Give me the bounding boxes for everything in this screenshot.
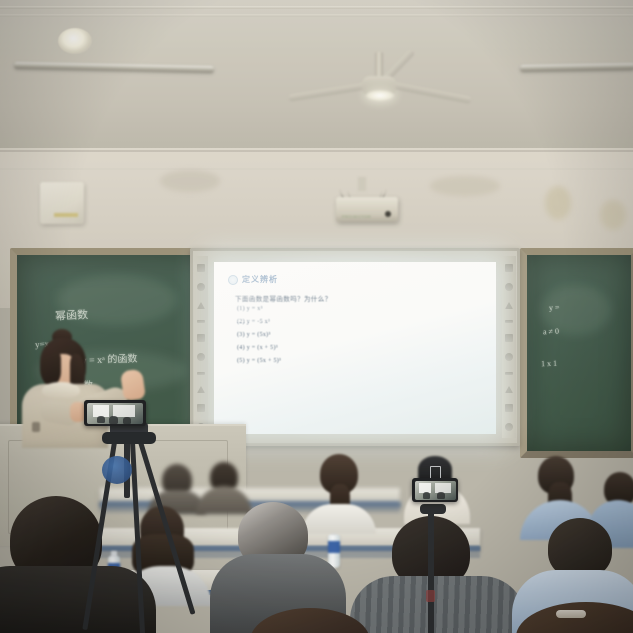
slide-equation: (2) y = -5 x³ xyxy=(237,319,482,325)
smartboard-tool-icon[interactable] xyxy=(197,320,205,323)
recessed-downlight-icon xyxy=(58,28,92,54)
water-bottle-2 xyxy=(328,534,340,568)
smartboard-tool-icon[interactable] xyxy=(197,334,205,342)
smartboard-tool-icon[interactable] xyxy=(197,283,205,291)
smartboard-tool-icon[interactable] xyxy=(197,353,205,361)
tripod-logo-icon xyxy=(102,456,132,484)
smartboard-tool-icon[interactable] xyxy=(505,404,513,412)
wall-trim-line xyxy=(0,150,633,152)
ceiling-fan-icon xyxy=(300,52,460,122)
slide-title: 定义辨析 xyxy=(242,274,278,285)
slide-equation: (1) y = x³ xyxy=(237,306,482,312)
wall-trim-line-2 xyxy=(0,168,633,170)
smartboard-tool-icon[interactable] xyxy=(197,372,205,375)
camera-monopod-right[interactable] xyxy=(400,470,480,633)
slide-heading: 定义辨析 xyxy=(228,274,482,285)
wall-smudge xyxy=(160,170,220,192)
teacher-right-hand-raised xyxy=(120,369,146,402)
teacher-collar xyxy=(42,382,80,398)
slide-bullet-icon xyxy=(228,275,238,285)
teacher-hair-front xyxy=(41,350,61,384)
slide-equations: (1) y = x³(2) y = -5 x³(3) y = (5x)³(4) … xyxy=(228,306,482,364)
chalkboard-right: y =a ≠ 01 x 1 xyxy=(520,248,633,458)
smartboard-tool-icon[interactable] xyxy=(505,353,513,361)
chalkboard-note: 1 x 1 xyxy=(541,359,557,369)
smartboard-tool-icon[interactable] xyxy=(505,334,513,342)
slide-equation: (4) y = (x + 5)³ xyxy=(237,345,482,351)
smartboard-tool-icon[interactable] xyxy=(197,386,205,393)
interactive-smart-board[interactable]: 定义辨析 下面函数是幂函数吗？为什么？ (1) y = x³(2) y = -5… xyxy=(190,248,520,446)
observer-head xyxy=(548,518,612,578)
smartboard-tool-icon[interactable] xyxy=(505,264,513,272)
smartboard-tool-icon[interactable] xyxy=(197,264,205,272)
smartboard-tool-icon[interactable] xyxy=(197,302,205,309)
smartboard-tool-icon[interactable] xyxy=(505,372,513,375)
smartboard-tool-icon[interactable] xyxy=(505,302,513,309)
hair-clip-icon xyxy=(556,610,586,618)
ceiling-seam-2 xyxy=(0,14,633,17)
smartphone-recording-left[interactable] xyxy=(84,400,146,426)
slide-question: 下面函数是幂函数吗？为什么？ xyxy=(235,293,482,303)
projection-screen: 定义辨析 下面函数是幂函数吗？为什么？ (1) y = x³(2) y = -5… xyxy=(214,262,496,434)
wall-smudge-2 xyxy=(430,176,500,196)
smartphone-recording-right[interactable] xyxy=(412,478,458,502)
smartboard-tool-icon[interactable] xyxy=(505,320,513,323)
smartboard-tool-icon[interactable] xyxy=(505,283,513,291)
wall-stain-2 xyxy=(600,200,626,230)
camera-tripod-left[interactable] xyxy=(80,398,210,633)
ceiling-projector-icon: PROJECTOR xyxy=(336,189,398,222)
slide-equation: (3) y = (5x)³ xyxy=(237,332,482,338)
wall-speaker-box-icon xyxy=(40,182,84,224)
smartboard-toolbar-right[interactable] xyxy=(502,256,516,438)
slide-equation: (5) y = (5x + 5)³ xyxy=(237,358,482,364)
ceiling-seam xyxy=(0,6,633,9)
smartboard-tool-icon[interactable] xyxy=(505,386,513,393)
classroom-photo: PROJECTOR 幂函数y=x形如 y = xᵃ 的函数幂函数x 是自变量 y… xyxy=(0,0,633,633)
projector-brand-label: PROJECTOR xyxy=(342,214,371,219)
wall-stain xyxy=(545,186,571,220)
slide-content: 定义辨析 下面函数是幂函数吗？为什么？ (1) y = x³(2) y = -5… xyxy=(214,262,496,434)
